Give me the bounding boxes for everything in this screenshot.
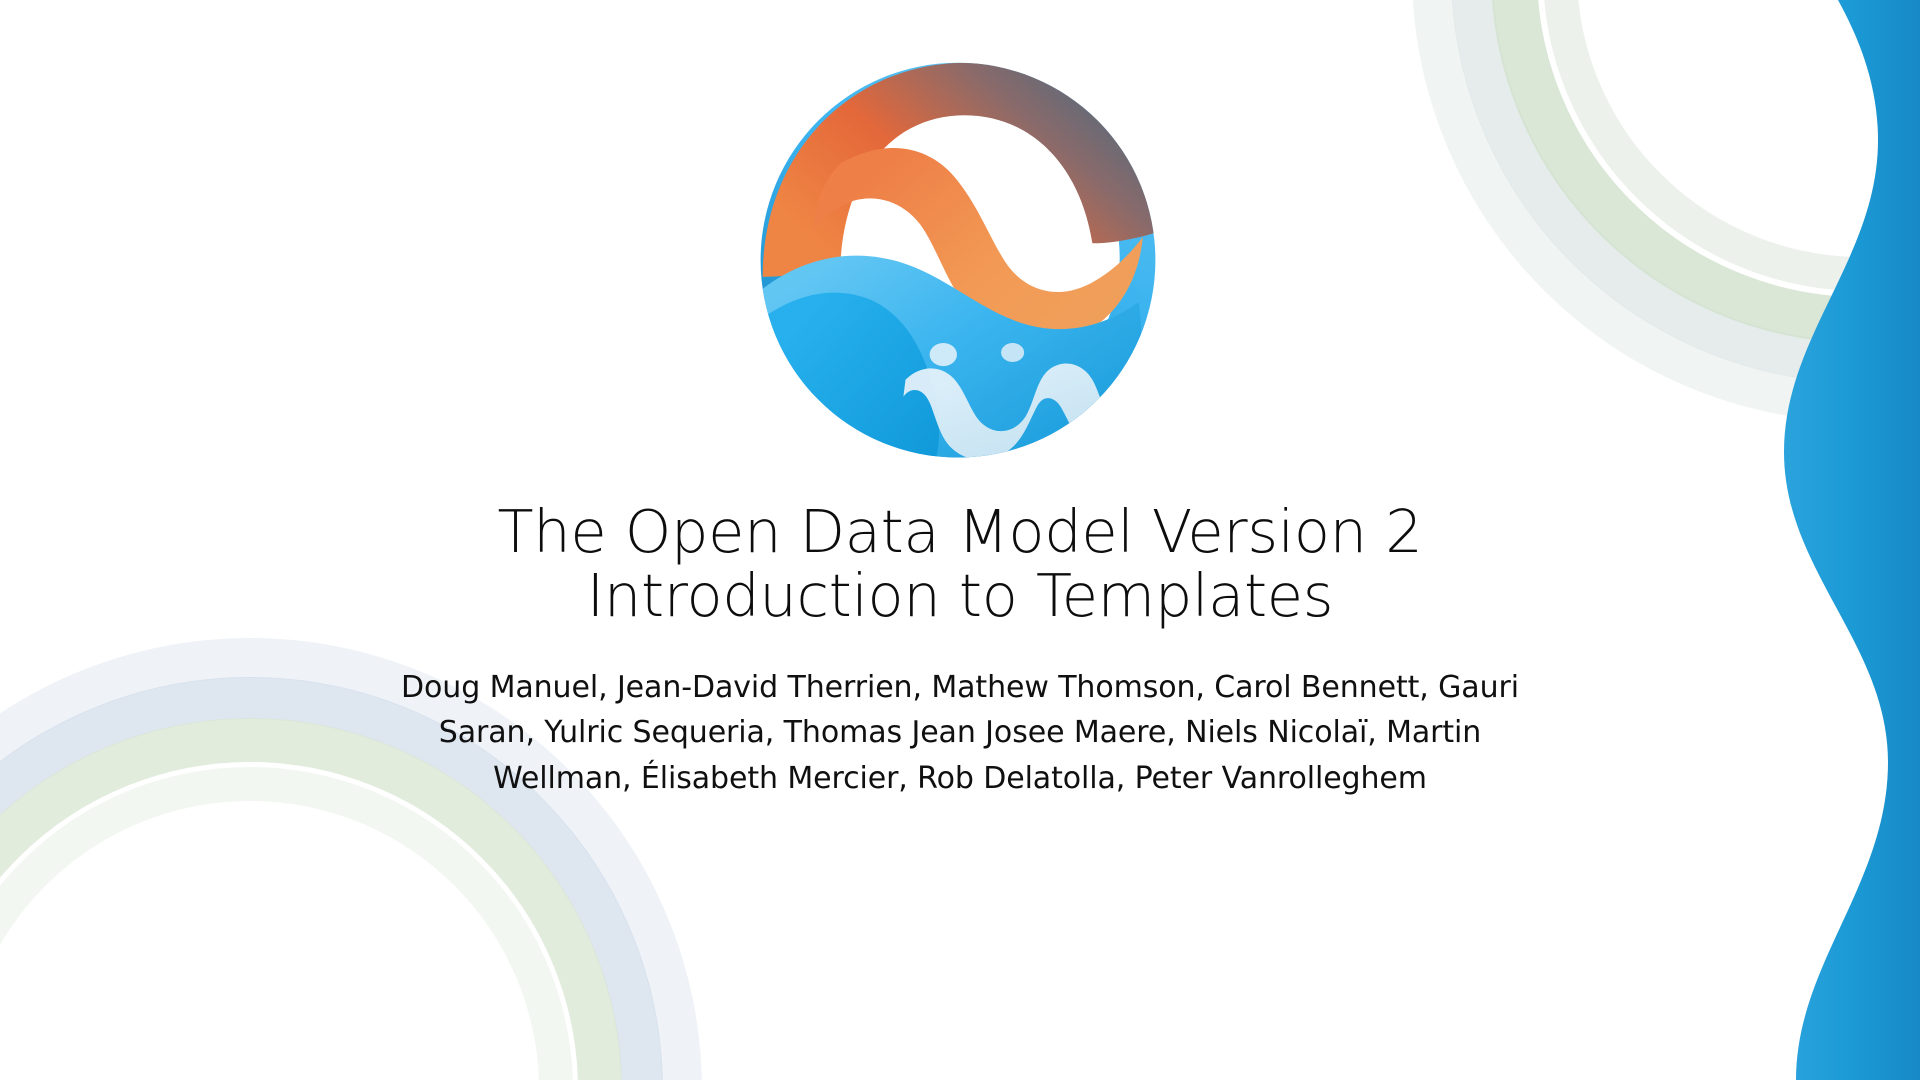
- title-text-block: The Open Data Model Version 2 Introducti…: [330, 500, 1590, 801]
- title-line-2: Introduction to Templates: [330, 564, 1590, 628]
- open-data-model-logo: [748, 48, 1168, 468]
- author-line-3: Wellman, Élisabeth Mercier, Rob Delatoll…: [330, 756, 1590, 802]
- page-title: The Open Data Model Version 2 Introducti…: [330, 500, 1590, 629]
- author-list: Doug Manuel, Jean-David Therrien, Mathew…: [330, 665, 1590, 802]
- title-slide: The Open Data Model Version 2 Introducti…: [0, 0, 1920, 1080]
- author-line-1: Doug Manuel, Jean-David Therrien, Mathew…: [330, 665, 1590, 711]
- logo-mark: [748, 48, 1168, 468]
- author-line-2: Saran, Yulric Sequeria, Thomas Jean Jose…: [330, 710, 1590, 756]
- title-line-1: The Open Data Model Version 2: [330, 500, 1590, 564]
